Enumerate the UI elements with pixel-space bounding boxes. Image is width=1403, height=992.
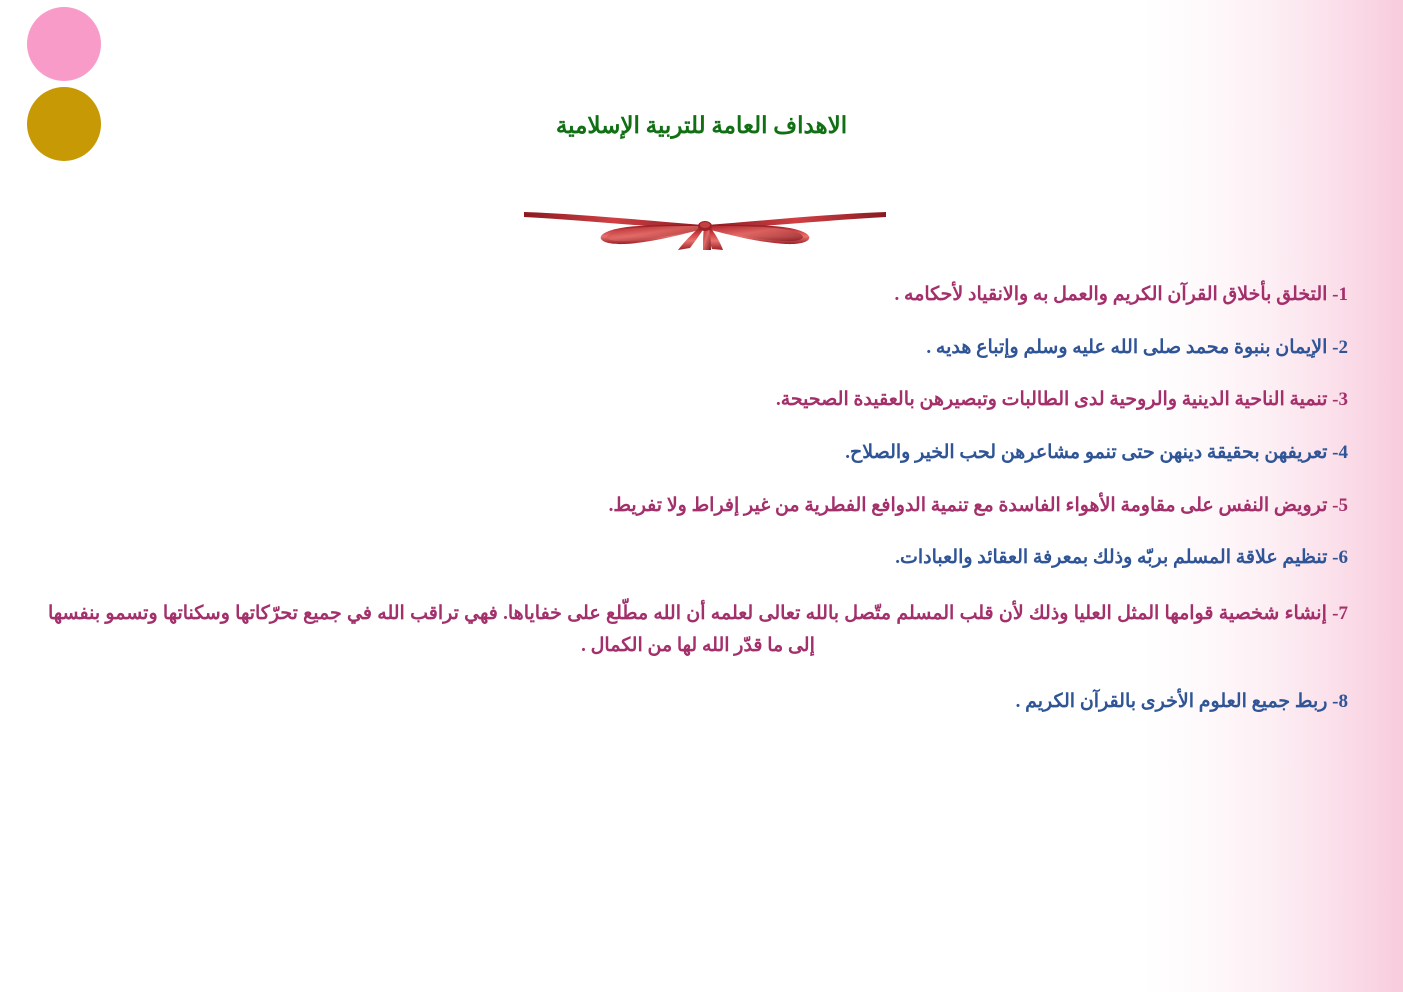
goals-list: 1- التخلق بأخلاق القرآن الكريم والعمل به… [48,282,1348,742]
goal-item-8: 8- ربط جميع العلوم الأخرى بالقرآن الكريم… [48,689,1348,715]
goal-item-5: 5- ترويض النفس على مقاومة الأهواء الفاسد… [48,493,1348,519]
pink-circle-decoration [27,7,101,81]
goal-item-3: 3- تنمية الناحية الدينية والروحية لدى ال… [48,387,1348,413]
goal-item-1: 1- التخلق بأخلاق القرآن الكريم والعمل به… [48,282,1348,308]
page-title: الاهداف العامة للتربية الإسلامية [0,113,1403,139]
goal-item-6: 6- تنظيم علاقة المسلم بربّه وذلك بمعرفة … [48,545,1348,571]
goal-item-4: 4- تعريفهن بحقيقة دينهن حتى تنمو مشاعرهن… [48,440,1348,466]
goal-item-7: 7- إنشاء شخصية قوامها المثل العليا وذلك … [48,598,1348,663]
goal-item-2: 2- الإيمان بنبوة محمد صلى الله عليه وسلم… [48,335,1348,361]
slide-canvas: الاهداف العامة للتربية الإسلامية [0,0,1403,992]
ribbon-bow-icon [520,192,890,254]
